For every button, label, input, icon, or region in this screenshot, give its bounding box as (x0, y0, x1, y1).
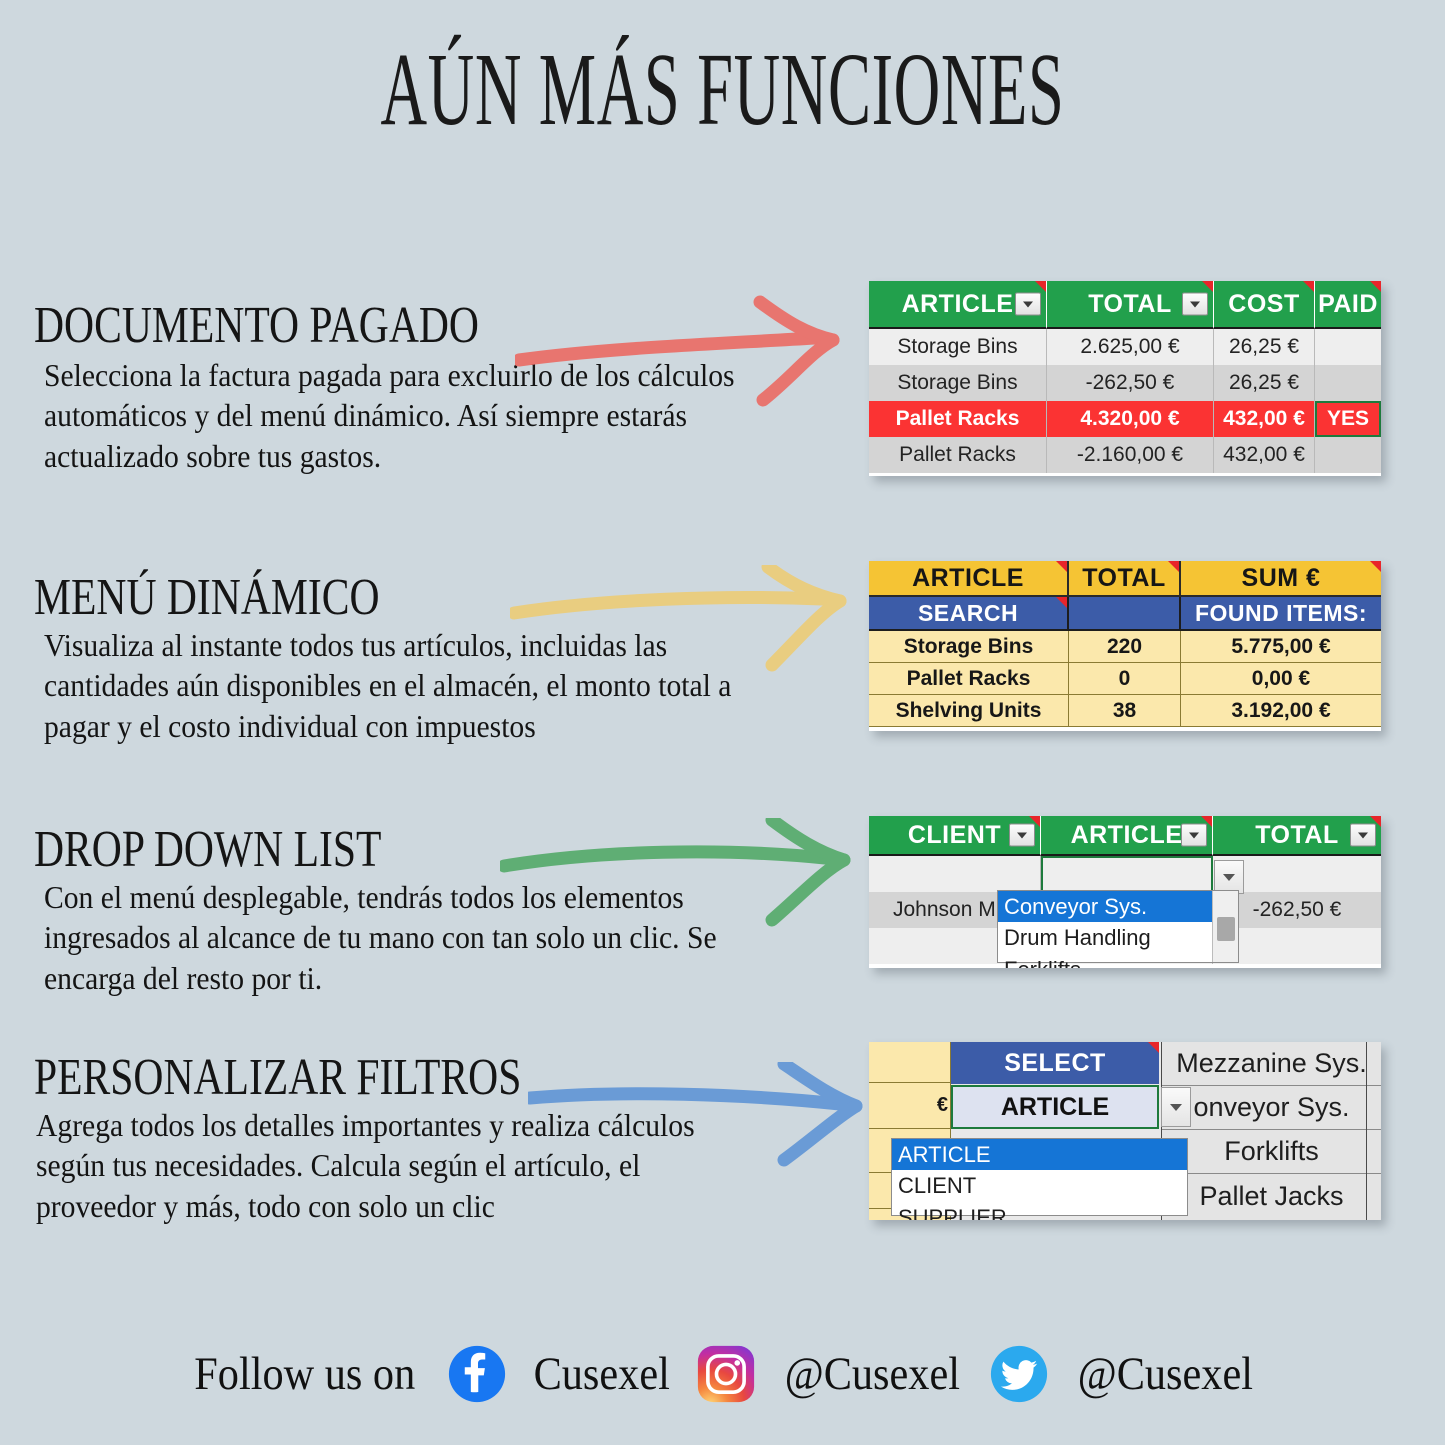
cell-article: Shelving Units (869, 695, 1069, 727)
dropdown-option[interactable]: CLIENT (892, 1170, 1187, 1201)
left-strip-mark: € (937, 1094, 948, 1117)
section-body-menu-dinamico: Visualiza al instante todos tus artículo… (44, 626, 796, 747)
cell-total: 4.320,00 € (1047, 401, 1214, 437)
cell-total: 38 (1069, 695, 1181, 727)
dropdown-scrollbar[interactable] (1212, 891, 1238, 962)
cell-client (869, 856, 1041, 892)
cell-article: Pallet Racks (869, 437, 1047, 473)
dropdown-option[interactable]: ARTICLE (892, 1139, 1187, 1170)
column-header-paid: PAID (1315, 281, 1381, 329)
cell-total: 220 (1069, 631, 1181, 663)
column-header-total: TOTAL (1047, 281, 1214, 329)
comment-indicator-icon (1029, 816, 1040, 827)
table-row: Storage Bins 2.625,00 € 26,25 € (869, 329, 1381, 365)
column-header-client: CLIENT (869, 816, 1041, 856)
twitter-handle[interactable]: @Cusexel (1078, 1347, 1253, 1401)
search-label-text: SEARCH (918, 600, 1018, 627)
table-row: Storage Bins 220 5.775,00 € (869, 631, 1381, 663)
section-body-documento-pagado: Selecciona la factura pagada para exclui… (44, 356, 787, 477)
section-heading-menu-dinamico: MENÚ DINÁMICO (34, 568, 380, 627)
comment-indicator-icon (1370, 281, 1381, 292)
cell-article: Storage Bins (869, 365, 1047, 401)
comment-indicator-icon (1168, 561, 1179, 572)
section-heading-documento-pagado: DOCUMENTO PAGADO (34, 296, 479, 355)
comment-indicator-icon (1201, 816, 1212, 827)
select-dropdown-popup[interactable]: ARTICLE CLIENT SUPPLIER (891, 1138, 1188, 1216)
cell-cost: 26,25 € (1214, 329, 1315, 365)
section-heading-drop-down-list: DROP DOWN LIST (34, 820, 381, 879)
article-dropdown-popup[interactable]: Conveyor Sys. Drum Handling Forklifts Me… (997, 890, 1239, 963)
right-column-item: Mezzanine Sys. (1162, 1042, 1381, 1086)
table-row: Shelving Units 38 3.192,00 € (869, 695, 1381, 727)
filter-dropdown-icon[interactable] (1182, 293, 1208, 316)
cell-paid (1315, 437, 1381, 473)
comment-indicator-icon (1056, 561, 1067, 572)
comment-indicator-icon (1035, 281, 1046, 292)
table-row: Pallet Racks 0 0,00 € (869, 663, 1381, 695)
found-items-label: FOUND ITEMS: (1181, 597, 1381, 631)
column-header-article-label: ARTICLE (1071, 821, 1183, 850)
cell-article: Pallet Racks (869, 401, 1047, 437)
column-header-client-label: CLIENT (908, 821, 1001, 850)
column-header-sum-label: SUM € (1242, 564, 1321, 593)
cell-cost: 26,25 € (1214, 365, 1315, 401)
cell-sum: 0,00 € (1181, 663, 1381, 695)
column-header-article: ARTICLE (869, 281, 1047, 329)
dropdown-scrollbar-thumb[interactable] (1217, 917, 1235, 941)
table-row: Pallet Racks -2.160,00 € 432,00 € (869, 437, 1381, 473)
right-column-item: Forklifts (1162, 1130, 1381, 1174)
column-header-article-label: ARTICLE (912, 564, 1024, 593)
cell-paid (1315, 365, 1381, 401)
facebook-handle[interactable]: Cusexel (533, 1347, 669, 1401)
column-header-total-label: TOTAL (1255, 821, 1339, 850)
cell-paid (1315, 329, 1381, 365)
instagram-handle[interactable]: @Cusexel (785, 1347, 960, 1401)
cell-sum: 5.775,00 € (1181, 631, 1381, 663)
table-subheader-row: SEARCH FOUND ITEMS: (869, 597, 1381, 631)
table-dynamic-menu: ARTICLE TOTAL SUM € SEARCH FOUND ITEMS: … (869, 561, 1381, 731)
comment-indicator-icon (1303, 281, 1314, 292)
table-header-row: ARTICLE TOTAL COST PAID (869, 281, 1381, 329)
cell-article-active[interactable] (1041, 856, 1213, 892)
column-header-cost: COST (1214, 281, 1315, 329)
dropdown-option[interactable]: SUPPLIER (892, 1202, 1187, 1220)
article-combo-arrow-icon[interactable] (1214, 860, 1244, 894)
select-header-label: SELECT (1004, 1049, 1106, 1078)
column-header-total-label: TOTAL (1082, 564, 1166, 593)
comment-indicator-icon (1056, 597, 1067, 608)
column-header-article: ARTICLE (1041, 816, 1213, 856)
table-header-row: CLIENT ARTICLE TOTAL (869, 816, 1381, 856)
cell-total: -262,50 € (1047, 365, 1214, 401)
comment-indicator-icon (1148, 1042, 1159, 1053)
filter-dropdown-icon[interactable] (1015, 293, 1041, 316)
search-label[interactable]: SEARCH (869, 597, 1069, 631)
comment-indicator-icon (1202, 281, 1213, 292)
select-header: SELECT (951, 1042, 1159, 1084)
instagram-icon[interactable] (697, 1345, 755, 1403)
column-header-article-label: ARTICLE (902, 290, 1014, 319)
facebook-icon[interactable] (448, 1345, 506, 1403)
cell-total: 2.625,00 € (1047, 329, 1214, 365)
section-body-drop-down-list: Con el menú desplegable, tendrás todos l… (44, 878, 796, 999)
cell-article: Pallet Racks (869, 663, 1069, 695)
comment-indicator-icon (1370, 816, 1381, 827)
column-header-sum: SUM € (1181, 561, 1381, 597)
table-row (869, 856, 1381, 892)
cell-article: Storage Bins (869, 631, 1069, 663)
cell-sum: 3.192,00 € (1181, 695, 1381, 727)
column-header-total: TOTAL (1213, 816, 1381, 856)
cell-total: -2.160,00 € (1047, 437, 1214, 473)
cell-paid-selected[interactable]: YES (1315, 401, 1381, 437)
column-header-total: TOTAL (1069, 561, 1181, 597)
table-row-highlighted: Pallet Racks 4.320,00 € 432,00 € YES (869, 401, 1381, 437)
comment-indicator-icon (1370, 561, 1381, 572)
cell-article: Storage Bins (869, 329, 1047, 365)
cell-total: 0 (1069, 663, 1181, 695)
select-combobox-arrow-icon[interactable] (1161, 1087, 1191, 1127)
search-input[interactable] (1069, 597, 1181, 631)
page-title: AÚN MÁS FUNCIONES (275, 34, 1171, 146)
select-combobox[interactable]: ARTICLE (951, 1085, 1159, 1129)
follow-us-label: Follow us on (195, 1347, 416, 1401)
right-column-item: onveyor Sys. (1162, 1086, 1381, 1130)
cell-cost: 432,00 € (1214, 401, 1315, 437)
twitter-icon[interactable] (990, 1345, 1048, 1403)
social-footer: Follow us on Cusexel @Cusexel (0, 1345, 1445, 1403)
table-drop-down-list: CLIENT ARTICLE TOTAL Johnson M -262 (869, 816, 1381, 968)
column-header-cost-label: COST (1228, 290, 1299, 319)
dropdown-option[interactable]: Drum Handling (998, 922, 1238, 953)
table-custom-filters: € € SELECT ARTICLE ARTICLE CLIENT SUPPLI… (869, 1042, 1381, 1220)
table-header-row: ARTICLE TOTAL SUM € (869, 561, 1381, 597)
dropdown-option[interactable]: Conveyor Sys. (998, 891, 1238, 922)
table-row: Storage Bins -262,50 € 26,25 € (869, 365, 1381, 401)
dropdown-option[interactable]: Forklifts (998, 954, 1238, 968)
column-header-total-label: TOTAL (1088, 290, 1172, 319)
cell-cost: 432,00 € (1214, 437, 1315, 473)
table-paid-document: ARTICLE TOTAL COST PAID Storage Bins 2.6… (869, 281, 1381, 476)
select-combobox-value: ARTICLE (951, 1085, 1159, 1129)
right-column-item: Pallet Jacks (1162, 1174, 1381, 1218)
section-heading-personalizar-filtros: PERSONALIZAR FILTROS (34, 1048, 521, 1107)
poster-canvas: AÚN MÁS FUNCIONES DOCUMENTO PAGADO Selec… (0, 0, 1445, 1445)
right-value-column: Mezzanine Sys. onveyor Sys. Forklifts Pa… (1161, 1042, 1381, 1220)
column-header-article: ARTICLE (869, 561, 1069, 597)
section-body-personalizar-filtros: Agrega todos los detalles importantes y … (36, 1106, 732, 1227)
column-header-paid-label: PAID (1318, 290, 1378, 319)
